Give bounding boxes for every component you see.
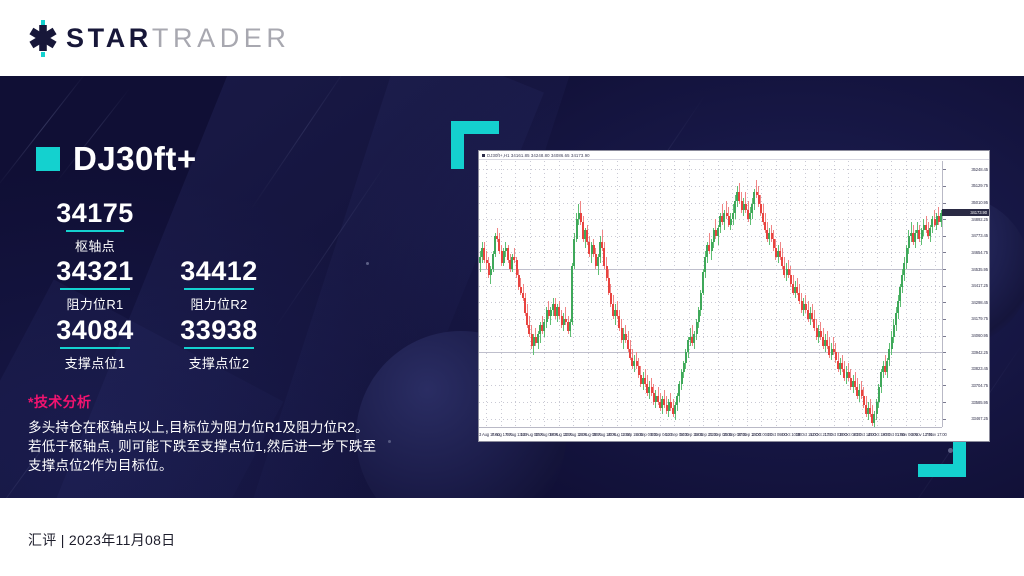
price-tick-mark bbox=[943, 319, 946, 320]
main-dark-panel: DJ30ft+ 34175 枢轴点 34321 阻力位R1 34412 阻力位R… bbox=[0, 76, 1024, 498]
price-tick-mark bbox=[943, 369, 946, 370]
brand-logo: STARTRADER bbox=[26, 19, 291, 57]
level-s2-value: 33938 bbox=[148, 315, 290, 345]
chart-plot-area[interactable] bbox=[479, 161, 942, 427]
instrument-title-row: DJ30ft+ bbox=[36, 140, 197, 178]
level-s1-label: 支撑点位1 bbox=[24, 353, 166, 372]
chart-price-axis: 34173.90 35248.4535129.7535010.9534892.2… bbox=[942, 161, 989, 427]
level-s1-value: 34084 bbox=[24, 315, 166, 345]
level-r1-label: 阻力位R1 bbox=[24, 294, 166, 313]
level-pivot: 34175 枢轴点 bbox=[36, 198, 154, 255]
price-tick-label: 33467.25 bbox=[971, 416, 988, 421]
level-r1-underline bbox=[60, 288, 130, 290]
price-tick-mark bbox=[943, 385, 946, 386]
chart-zone: DJ30ft+,H1 34161.85 34248.80 34086.65 34… bbox=[440, 76, 1024, 498]
footer-caption: 汇评 | 2023年11月08日 bbox=[28, 530, 175, 550]
chart-title-text: DJ30ft+,H1 34161.85 34248.80 34086.65 34… bbox=[487, 153, 590, 158]
price-tick-label: 35248.45 bbox=[971, 167, 988, 172]
price-tick-mark bbox=[943, 286, 946, 287]
price-tick-label: 34535.95 bbox=[971, 267, 988, 272]
price-tick-mark bbox=[943, 402, 946, 403]
level-support-2: 33938 支撑点位2 bbox=[148, 315, 290, 372]
candlestick-chart-window[interactable]: DJ30ft+,H1 34161.85 34248.80 34086.65 34… bbox=[478, 150, 990, 442]
level-r2-underline bbox=[184, 288, 254, 290]
price-tick-label: 34179.75 bbox=[971, 316, 988, 321]
chart-title-marker-icon bbox=[482, 154, 485, 157]
price-tick-label: 35129.75 bbox=[971, 183, 988, 188]
price-tick-mark bbox=[943, 269, 946, 270]
level-r1-value: 34321 bbox=[24, 256, 166, 286]
price-tick-mark bbox=[943, 302, 946, 303]
price-tick-label: 33704.75 bbox=[971, 383, 988, 388]
price-tick-mark bbox=[943, 336, 946, 337]
page-header: STARTRADER bbox=[0, 0, 1024, 76]
title-bullet-square bbox=[36, 147, 60, 171]
price-tick-mark bbox=[943, 252, 946, 253]
price-tick-mark bbox=[943, 219, 946, 220]
price-tick-mark bbox=[943, 352, 946, 353]
level-pivot-underline bbox=[66, 230, 124, 232]
price-tick-label: 33942.25 bbox=[971, 350, 988, 355]
level-s1-underline bbox=[60, 347, 130, 349]
level-resistance-1: 34321 阻力位R1 bbox=[24, 256, 166, 313]
price-tick-label: 34892.25 bbox=[971, 217, 988, 222]
asterisk-glyph bbox=[26, 23, 60, 53]
analysis-line-2: 若低于枢轴点, 则可能下跌至支撑点位1,然后进一步下跌至 bbox=[28, 437, 428, 456]
analysis-body: 多头持仓在枢轴点以上,目标位为阻力位R1及阻力位R2。 若低于枢轴点, 则可能下… bbox=[28, 418, 428, 475]
price-tick-label: 34298.45 bbox=[971, 300, 988, 305]
price-tick-label: 35010.95 bbox=[971, 200, 988, 205]
brand-name-star: STAR bbox=[66, 23, 152, 53]
level-r2-label: 阻力位R2 bbox=[148, 294, 290, 313]
brand-wordmark: STARTRADER bbox=[66, 23, 291, 54]
level-pivot-value: 34175 bbox=[36, 198, 154, 228]
brand-name-trader: TRADER bbox=[152, 23, 291, 53]
level-s2-underline bbox=[184, 347, 254, 349]
technical-analysis-block: *技术分析 多头持仓在枢轴点以上,目标位为阻力位R1及阻力位R2。 若低于枢轴点… bbox=[28, 392, 428, 475]
asterisk-logo-icon bbox=[26, 19, 60, 57]
analysis-line-1: 多头持仓在枢轴点以上,目标位为阻力位R1及阻力位R2。 bbox=[28, 418, 428, 437]
left-info-column: DJ30ft+ 34175 枢轴点 34321 阻力位R1 34412 阻力位R… bbox=[0, 76, 450, 498]
time-tick-label: 7 Nov 17:00 bbox=[926, 432, 947, 437]
analysis-heading: *技术分析 bbox=[28, 392, 428, 412]
price-tick-label: 33823.45 bbox=[971, 366, 988, 371]
candlestick-series bbox=[479, 161, 942, 427]
price-tick-mark bbox=[943, 236, 946, 237]
price-tick-label: 34654.75 bbox=[971, 250, 988, 255]
current-price-badge: 34173.90 bbox=[942, 209, 989, 216]
page-title: DJ30ft+ bbox=[73, 140, 197, 178]
price-tick-label: 34773.45 bbox=[971, 233, 988, 238]
chart-time-axis: 3 Aug 16:007 Aug 17:009 Aug 13:0014 Aug … bbox=[479, 427, 942, 441]
price-tick-label: 34417.25 bbox=[971, 283, 988, 288]
price-tick-mark bbox=[943, 169, 946, 170]
price-tick-label: 33585.95 bbox=[971, 400, 988, 405]
page-footer: 汇评 | 2023年11月08日 bbox=[0, 498, 1024, 576]
price-tick-mark bbox=[943, 419, 946, 420]
level-resistance-2: 34412 阻力位R2 bbox=[148, 256, 290, 313]
chart-title-bar: DJ30ft+,H1 34161.85 34248.80 34086.65 34… bbox=[479, 151, 989, 160]
level-s2-label: 支撑点位2 bbox=[148, 353, 290, 372]
level-r2-value: 34412 bbox=[148, 256, 290, 286]
level-pivot-label: 枢轴点 bbox=[36, 236, 154, 255]
price-tick-label: 34060.95 bbox=[971, 333, 988, 338]
level-support-1: 34084 支撑点位1 bbox=[24, 315, 166, 372]
price-tick-mark bbox=[943, 186, 946, 187]
analysis-line-3: 支撑点位2作为目标位。 bbox=[28, 456, 428, 475]
price-tick-mark bbox=[943, 203, 946, 204]
